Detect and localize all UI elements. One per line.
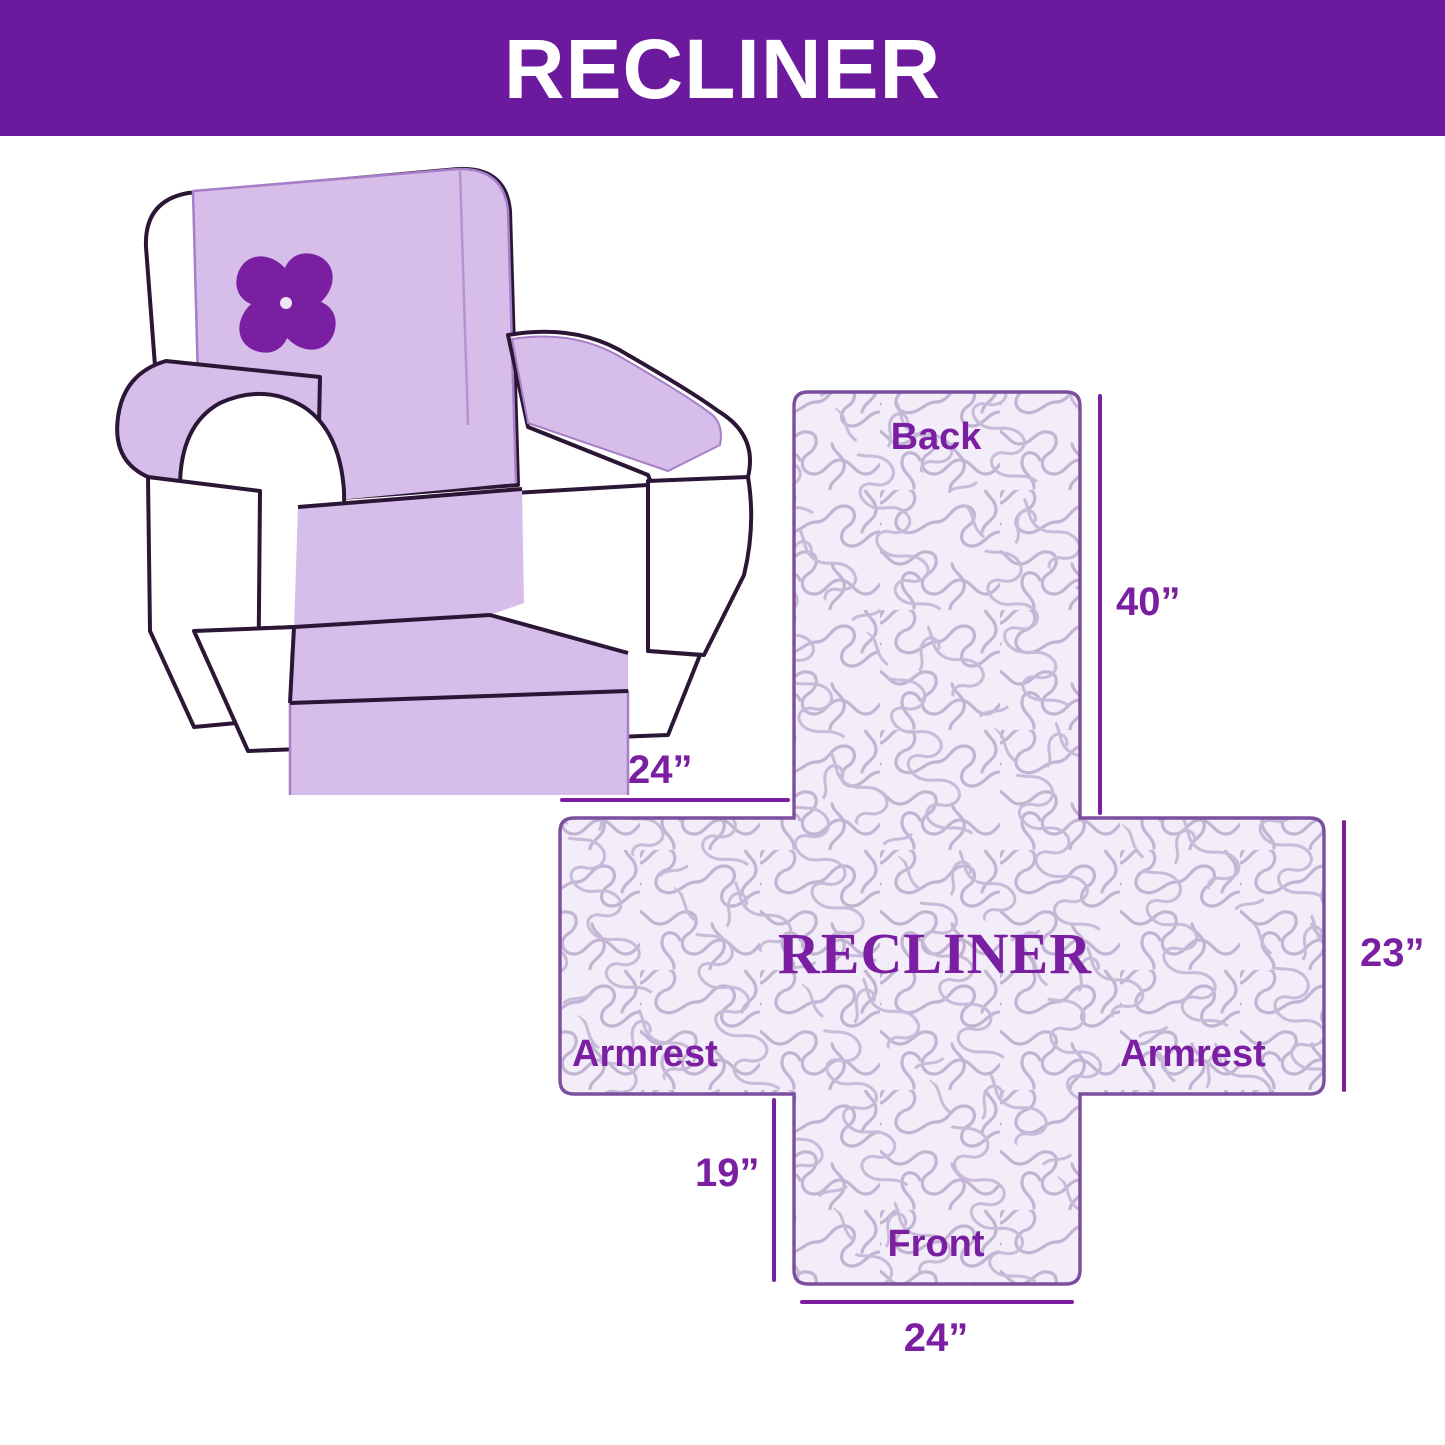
recliner-cover-cross-shape bbox=[520, 370, 1445, 1430]
product-dimension-infographic: RECLINER bbox=[0, 0, 1445, 1445]
panel-label-front: Front bbox=[816, 1225, 1056, 1263]
chair-seat-cover-back-panel bbox=[294, 489, 524, 627]
dimension-label-front-height: 19” bbox=[695, 1153, 760, 1193]
dimension-label-back-height: 40” bbox=[1116, 582, 1181, 622]
dimension-label-armrest-height: 23” bbox=[1360, 933, 1425, 973]
dimension-label-armrest-width: 24” bbox=[628, 750, 693, 790]
panel-label-armrest-right: Armrest bbox=[1120, 1035, 1266, 1073]
panel-label-armrest-left: Armrest bbox=[572, 1035, 718, 1073]
dimension-label-front-width: 24” bbox=[816, 1318, 1056, 1358]
panel-label-back: Back bbox=[816, 418, 1056, 456]
page-title: RECLINER bbox=[504, 27, 941, 111]
center-label-recliner: RECLINER bbox=[710, 925, 1160, 983]
dimension-diagram: Back RECLINER Armrest Armrest Front 40” … bbox=[520, 370, 1445, 1430]
pinwheel-fan-icon bbox=[236, 253, 335, 352]
header-banner: RECLINER bbox=[0, 0, 1445, 136]
